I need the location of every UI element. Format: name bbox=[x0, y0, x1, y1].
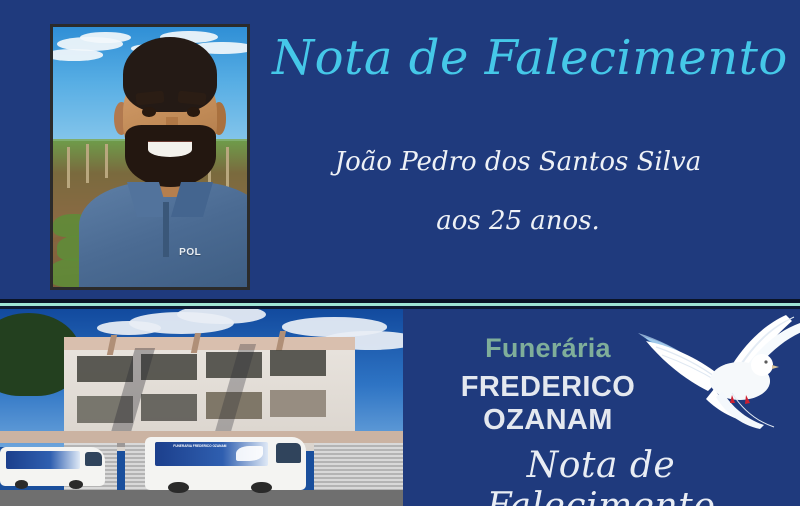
shirt-placket bbox=[163, 202, 169, 257]
van-window bbox=[276, 443, 302, 462]
funeral-home-branding: Funerária FREDERICO OZANAM Nota de Falec… bbox=[403, 309, 800, 506]
top-section: POL Nota de Falecimento João Pedro dos S… bbox=[0, 0, 800, 299]
van-dove-icon bbox=[236, 446, 263, 461]
van-window bbox=[85, 452, 102, 466]
funeral-home-building-photo: FUNERARIA FREDERICO OZANAM bbox=[0, 309, 403, 506]
deceased-info: João Pedro dos Santos Silva aos 25 anos. bbox=[268, 148, 768, 235]
portrait-subject: POL bbox=[100, 37, 247, 287]
subject-eye-left bbox=[142, 107, 155, 117]
brand-prefix: Funerária bbox=[403, 333, 693, 364]
deceased-portrait-photo: POL bbox=[53, 27, 247, 287]
bottom-section: FUNERARIA FREDERICO OZANAM bbox=[0, 309, 800, 506]
van-banner: FUNERARIA FREDERICO OZANAM bbox=[155, 442, 268, 466]
brand-tagline: Nota de Falecimento bbox=[411, 445, 791, 506]
van-wheel bbox=[69, 480, 83, 489]
brand-name: FREDERICO OZANAM bbox=[403, 371, 693, 437]
deceased-portrait-frame: POL bbox=[50, 24, 250, 290]
building-window bbox=[270, 390, 326, 418]
van-wheel bbox=[15, 480, 29, 489]
building-window bbox=[141, 394, 197, 422]
funeral-van-right: FUNERARIA FREDERICO OZANAM bbox=[145, 437, 306, 490]
roller-shutter bbox=[314, 443, 403, 490]
van-banner bbox=[6, 451, 79, 469]
page-title: Nota de Falecimento bbox=[270, 34, 790, 82]
funeral-van-left bbox=[0, 447, 105, 486]
cloud-shape bbox=[97, 321, 161, 335]
deceased-age: aos 25 anos. bbox=[268, 207, 768, 236]
vineyard-post bbox=[67, 147, 70, 189]
van-banner-line1: FUNERARIA FREDERICO OZANAM bbox=[159, 444, 240, 449]
vineyard-post bbox=[86, 144, 89, 183]
deceased-name: João Pedro dos Santos Silva bbox=[268, 148, 768, 177]
section-divider bbox=[0, 299, 800, 309]
building-window bbox=[270, 350, 326, 376]
subject-eye-right bbox=[187, 107, 200, 117]
cloud-shape bbox=[53, 49, 103, 60]
obituary-poster: POL Nota de Falecimento João Pedro dos S… bbox=[0, 0, 800, 506]
building-window bbox=[77, 356, 133, 382]
shirt-logo-text: POL bbox=[179, 247, 201, 258]
van-wheel bbox=[168, 482, 189, 494]
street-ground bbox=[0, 490, 403, 506]
